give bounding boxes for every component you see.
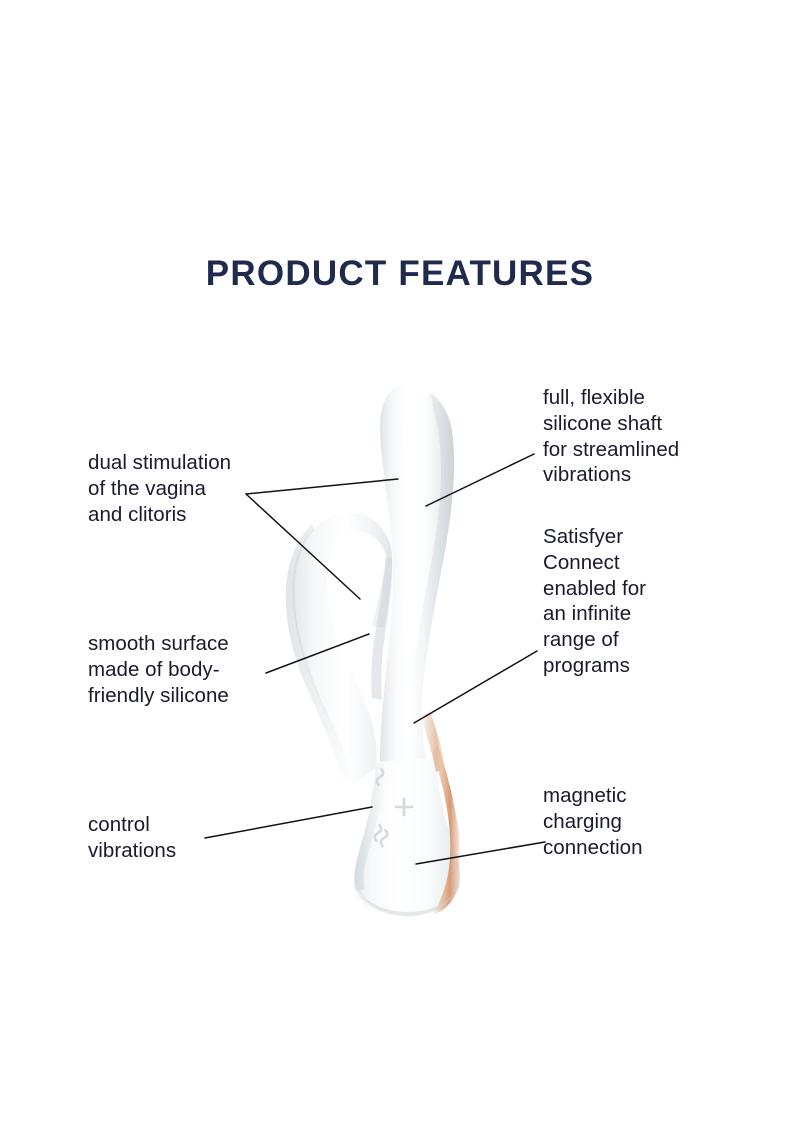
callout-control-vibrations: control vibrations xyxy=(88,812,278,864)
callout-satisfyer-connect: Satisfyer Connect enabled for an infinit… xyxy=(543,524,703,679)
callout-silicone-shaft: full, flexible silicone shaft for stream… xyxy=(543,385,728,488)
callout-smooth-surface: smooth surface made of body- friendly si… xyxy=(88,631,296,708)
product-silhouette xyxy=(286,386,462,917)
leader-line-connect xyxy=(414,651,537,723)
product-features-diagram: PRODUCT FEATURES xyxy=(0,0,800,1132)
callout-magnetic-charging: magnetic charging connection xyxy=(543,783,718,860)
callout-dual-stimulation: dual stimulation of the vagina and clito… xyxy=(88,450,288,527)
